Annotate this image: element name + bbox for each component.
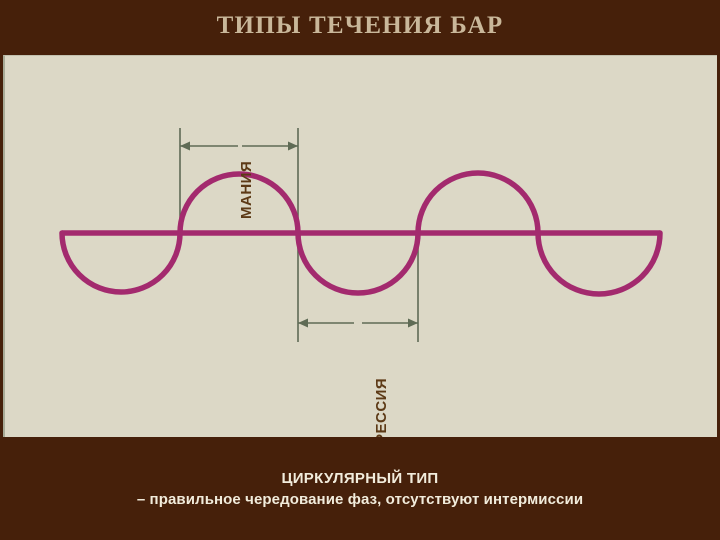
diagram-canvas: МАНИЯ ДЕПРЕССИЯ — [5, 56, 717, 437]
diagram-panel: МАНИЯ ДЕПРЕССИЯ — [3, 55, 717, 437]
waveform-graphic — [5, 56, 717, 437]
header-bar: ТИПЫ ТЕЧЕНИЯ БАР — [0, 0, 720, 52]
caption-description: – правильное чередование фаз, отсутствую… — [137, 491, 583, 508]
slide-root: ТИПЫ ТЕЧЕНИЯ БАР — [0, 0, 720, 540]
phase-label-mania: МАНИЯ — [238, 161, 255, 219]
measure-arrow-mania — [180, 142, 298, 151]
page-title: ТИПЫ ТЕЧЕНИЯ БАР — [217, 12, 504, 40]
phase-label-depression: ДЕПРЕССИЯ — [373, 378, 390, 437]
measure-arrow-depression — [298, 319, 418, 328]
footer-caption: ЦИРКУЛЯРНЫЙ ТИП – правильное чередование… — [0, 437, 720, 540]
caption-title: ЦИРКУЛЯРНЫЙ ТИП — [281, 470, 438, 487]
